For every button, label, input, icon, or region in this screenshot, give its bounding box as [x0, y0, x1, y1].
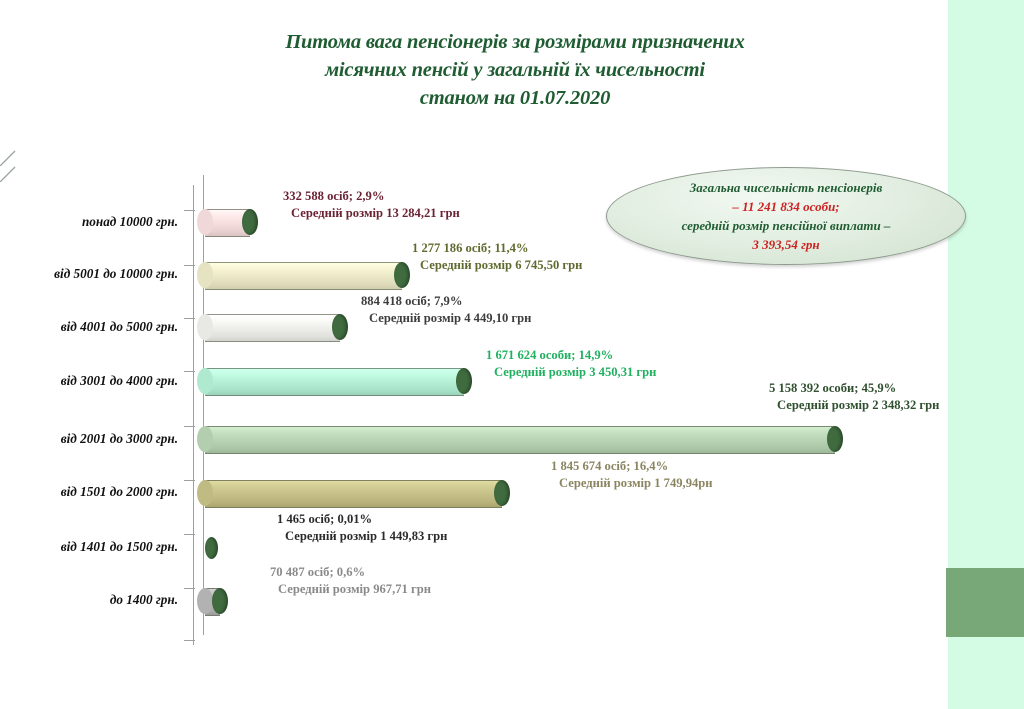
bar-7 [205, 537, 218, 559]
value-label-3: 884 418 осіб; 7,9%Середній розмір 4 449,… [361, 293, 531, 327]
axis-tick [184, 318, 195, 319]
value-count-label: 1 845 674 осіб; 16,4% [551, 458, 713, 475]
bar-left-cap [197, 588, 213, 614]
value-average-label: Середній розмір 13 284,21 грн [283, 205, 460, 222]
bar-right-cap [332, 314, 348, 340]
axis-tick [184, 640, 195, 641]
summary-line-2: – 11 241 834 особи; [732, 197, 839, 216]
axis-tick [184, 534, 195, 535]
value-average-label: Середній розмір 1 749,94рн [551, 475, 713, 492]
axis-tick [184, 371, 195, 372]
value-label-1: 332 588 осіб; 2,9%Середній розмір 13 284… [283, 188, 460, 222]
value-average-label: Середній розмір 967,71 грн [270, 581, 431, 598]
bar-1 [205, 209, 258, 235]
category-label-text: від 5001 до 10000 грн. [48, 266, 178, 282]
value-label-4: 1 671 624 особи; 14,9%Середній розмір 3 … [486, 347, 656, 381]
category-label-text: від 1401 до 1500 грн. [48, 539, 178, 555]
bar-body [205, 426, 835, 454]
axis-top-connector [0, 150, 16, 166]
bar-right-cap [212, 588, 228, 614]
bar-right-cap [242, 209, 258, 235]
title-line-2: місячних пенсій у загальній їх чисельнос… [200, 56, 830, 84]
bar-right-cap [205, 537, 218, 559]
value-average-label: Середній розмір 6 745,50 грн [412, 257, 582, 274]
value-count-label: 1 465 осіб; 0,01% [277, 511, 447, 528]
category-label-text: від 1501 до 2000 грн. [48, 484, 178, 500]
title-line-3: станом на 01.07.2020 [200, 84, 830, 112]
category-label-text: понад 10000 грн. [48, 214, 178, 230]
bar-body [205, 480, 502, 508]
bar-left-cap [197, 480, 213, 506]
bar-body [205, 368, 464, 396]
value-count-label: 884 418 осіб; 7,9% [361, 293, 531, 310]
bar-body [205, 262, 402, 290]
axis-bottom-connector [0, 166, 16, 182]
bar-left-cap [197, 262, 213, 288]
axis-tick [184, 210, 195, 211]
category-label-text: до 1400 грн. [48, 592, 178, 608]
bar-right-cap [394, 262, 410, 288]
summary-line-1: Загальна чисельність пенсіонерів [690, 178, 883, 197]
bar-right-cap [494, 480, 510, 506]
bar-left-cap [197, 314, 213, 340]
value-label-5: 5 158 392 особи; 45,9%Середній розмір 2 … [769, 380, 939, 414]
category-label-text: від 4001 до 5000 грн. [48, 319, 178, 335]
bar-left-cap [197, 426, 213, 452]
bar-right-cap [827, 426, 843, 452]
summary-text: Загальна чисельність пенсіонерів – 11 24… [606, 167, 966, 265]
title-line-1: Питома вага пенсіонерів за розмірами при… [200, 28, 830, 56]
value-average-label: Середній розмір 2 348,32 грн [769, 397, 939, 414]
value-count-label: 1 277 186 осіб; 11,4% [412, 240, 582, 257]
axis-back-wall [203, 175, 204, 635]
value-label-8: 70 487 осіб; 0,6%Середній розмір 967,71 … [270, 564, 431, 598]
bar-4 [205, 368, 472, 394]
bar-left-cap [197, 368, 213, 394]
summary-line-3: середній розмір пенсійної виплати – [682, 216, 891, 235]
bar-2 [205, 262, 410, 288]
value-count-label: 1 671 624 особи; 14,9% [486, 347, 656, 364]
value-label-2: 1 277 186 осіб; 11,4%Середній розмір 6 7… [412, 240, 582, 274]
value-count-label: 5 158 392 особи; 45,9% [769, 380, 939, 397]
axis-tick [184, 588, 195, 589]
bar-right-cap [456, 368, 472, 394]
value-label-6: 1 845 674 осіб; 16,4%Середній розмір 1 7… [551, 458, 713, 492]
decorative-green-block [946, 568, 1024, 637]
bar-left-cap [197, 209, 213, 235]
bar-3 [205, 314, 348, 340]
category-label-text: від 3001 до 4000 грн. [48, 373, 178, 389]
axis-front-wall [193, 185, 194, 645]
summary-line-4: 3 393,54 грн [752, 235, 819, 254]
value-label-7: 1 465 осіб; 0,01%Середній розмір 1 449,8… [277, 511, 447, 545]
axis-tick [184, 265, 195, 266]
bar-6 [205, 480, 510, 506]
page-title: Питома вага пенсіонерів за розмірами при… [200, 28, 830, 112]
bar-8 [205, 588, 228, 614]
bar-body [205, 314, 340, 342]
axis-tick [184, 480, 195, 481]
bar-5 [205, 426, 843, 452]
category-label-text: від 2001 до 3000 грн. [48, 431, 178, 447]
value-count-label: 70 487 осіб; 0,6% [270, 564, 431, 581]
value-average-label: Середній розмір 3 450,31 грн [486, 364, 656, 381]
summary-callout: Загальна чисельність пенсіонерів – 11 24… [606, 167, 966, 265]
value-average-label: Середній розмір 4 449,10 грн [361, 310, 531, 327]
value-average-label: Середній розмір 1 449,83 грн [277, 528, 447, 545]
value-count-label: 332 588 осіб; 2,9% [283, 188, 460, 205]
axis-tick [184, 426, 195, 427]
